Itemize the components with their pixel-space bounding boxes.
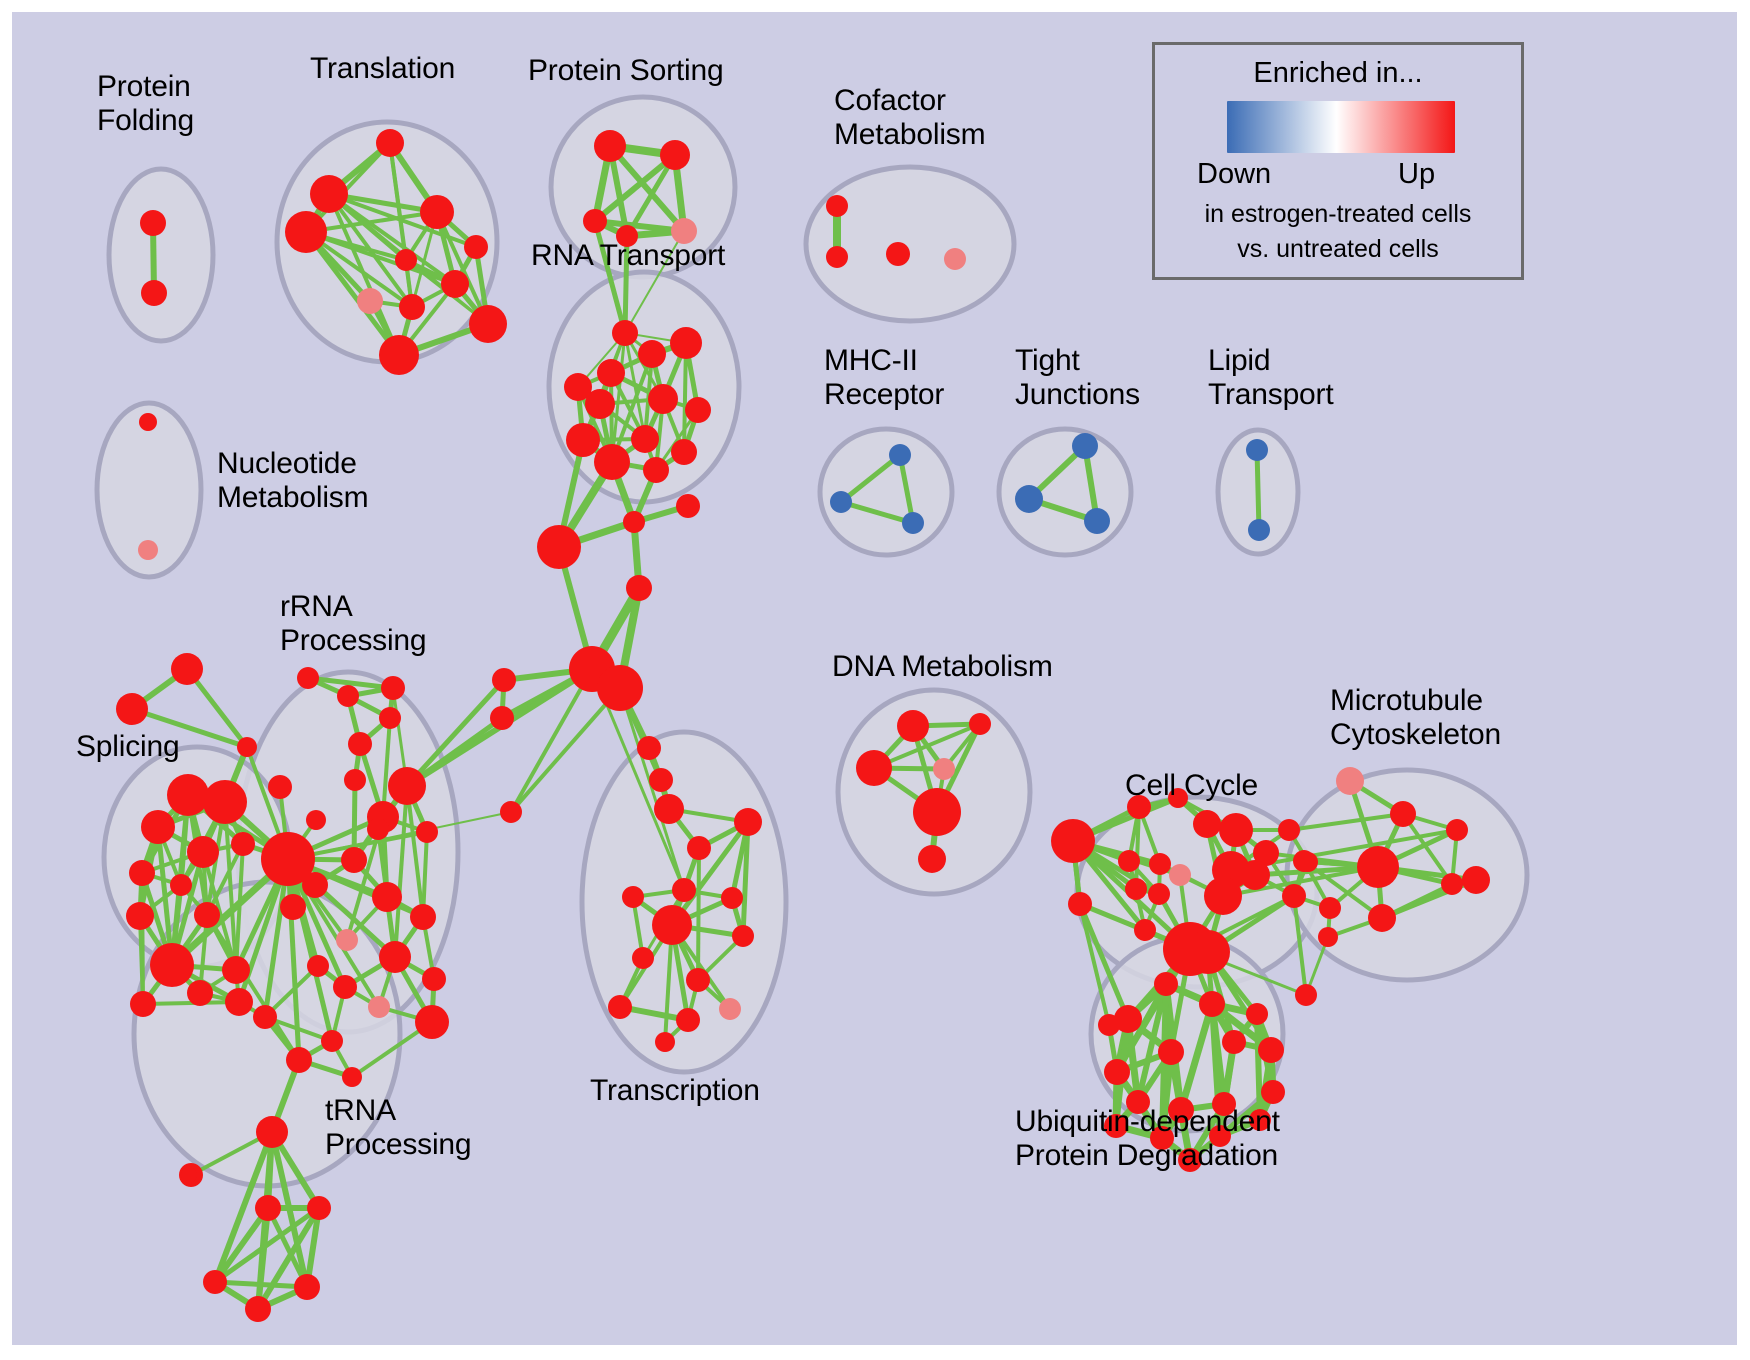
- network-node[interactable]: [1319, 897, 1341, 919]
- network-node[interactable]: [652, 905, 692, 945]
- legend-title: Enriched in...: [1155, 57, 1521, 90]
- network-node[interactable]: [1118, 850, 1140, 872]
- network-node[interactable]: [1246, 1003, 1268, 1025]
- network-node[interactable]: [231, 832, 255, 856]
- network-node[interactable]: [631, 425, 659, 453]
- network-node[interactable]: [280, 894, 306, 920]
- network-node[interactable]: [933, 758, 955, 780]
- network-node[interactable]: [171, 653, 203, 685]
- network-node[interactable]: [138, 540, 158, 560]
- network-node[interactable]: [597, 665, 643, 711]
- network-node[interactable]: [337, 685, 359, 707]
- network-node[interactable]: [1154, 972, 1178, 996]
- cluster-label-rrna-processing: rRNAProcessing: [280, 590, 426, 657]
- network-node[interactable]: [464, 235, 488, 259]
- cluster-label-line: Ubiquitin-dependent: [1015, 1105, 1280, 1139]
- network-node[interactable]: [336, 929, 358, 951]
- cluster-label-line: Tight: [1015, 344, 1140, 378]
- network-node[interactable]: [187, 836, 219, 868]
- legend-box: Enriched in... Down Up in estrogen-treat…: [1152, 42, 1524, 280]
- network-node[interactable]: [637, 736, 661, 760]
- network-node[interactable]: [381, 676, 405, 700]
- network-node[interactable]: [732, 925, 754, 947]
- cluster-label-line: Cell Cycle: [1125, 769, 1258, 803]
- cluster-label-line: DNA Metabolism: [832, 650, 1053, 684]
- network-node[interactable]: [856, 750, 892, 786]
- network-node[interactable]: [141, 280, 167, 306]
- network-node[interactable]: [1186, 930, 1230, 974]
- network-node[interactable]: [648, 384, 678, 414]
- network-node[interactable]: [918, 845, 946, 873]
- network-node[interactable]: [187, 980, 213, 1006]
- network-node[interactable]: [167, 774, 209, 816]
- network-node[interactable]: [410, 904, 436, 930]
- network-node[interactable]: [416, 821, 438, 843]
- network-node[interactable]: [194, 902, 220, 928]
- network-node[interactable]: [140, 210, 166, 236]
- cluster-label-transcription: Transcription: [590, 1074, 760, 1108]
- network-node[interactable]: [676, 1008, 700, 1032]
- network-node[interactable]: [1357, 846, 1399, 888]
- network-node[interactable]: [441, 270, 469, 298]
- network-edge: [1257, 450, 1259, 530]
- network-node[interactable]: [608, 995, 632, 1019]
- network-canvas: ProteinFoldingTranslationProtein Sorting…: [12, 12, 1737, 1345]
- network-node[interactable]: [379, 941, 411, 973]
- network-node[interactable]: [203, 780, 247, 824]
- cluster-label-lipid-transport: LipidTransport: [1208, 344, 1333, 411]
- network-node[interactable]: [225, 988, 253, 1016]
- legend-subtitle-line1: in estrogen-treated cells: [1155, 200, 1521, 229]
- cluster-label-trna-processing: tRNAProcessing: [325, 1094, 471, 1161]
- cluster-label-translation: Translation: [310, 52, 455, 86]
- cluster-label-line: Transcription: [590, 1074, 760, 1108]
- network-node[interactable]: [379, 707, 401, 729]
- network-node[interactable]: [1278, 819, 1300, 841]
- network-node[interactable]: [395, 249, 417, 271]
- network-node[interactable]: [130, 991, 156, 1017]
- network-node[interactable]: [734, 808, 762, 836]
- network-node[interactable]: [1084, 508, 1110, 534]
- network-node[interactable]: [1149, 853, 1171, 875]
- network-node[interactable]: [139, 413, 157, 431]
- network-node[interactable]: [672, 878, 696, 902]
- network-node[interactable]: [1295, 984, 1317, 1006]
- network-node[interactable]: [719, 998, 741, 1020]
- legend-color-gradient-bar: [1227, 101, 1455, 153]
- cluster-label-tight-junctions: TightJunctions: [1015, 344, 1140, 411]
- network-node[interactable]: [285, 211, 327, 253]
- cluster-label-dna-metabolism: DNA Metabolism: [832, 650, 1053, 684]
- legend-down-label: Down: [1197, 158, 1271, 191]
- network-node[interactable]: [670, 327, 702, 359]
- cluster-label-line: Cofactor: [834, 84, 985, 118]
- network-node[interactable]: [256, 1116, 288, 1148]
- legend-subtitle-line2: vs. untreated cells: [1155, 235, 1521, 264]
- cluster-label-nucleotide-metabolism: NucleotideMetabolism: [217, 447, 368, 514]
- cluster-label-line: Protein Degradation: [1015, 1139, 1280, 1173]
- network-node[interactable]: [420, 195, 454, 229]
- network-node[interactable]: [310, 175, 348, 213]
- cluster-label-protein-sorting: Protein Sorting: [528, 54, 723, 88]
- enrichment-map-figure: ProteinFoldingTranslationProtein Sorting…: [0, 0, 1750, 1360]
- cluster-label-line: Splicing: [76, 730, 179, 764]
- network-node[interactable]: [1068, 892, 1092, 916]
- network-node[interactable]: [1248, 519, 1270, 541]
- network-edge: [215, 1282, 307, 1287]
- network-node[interactable]: [566, 423, 600, 457]
- cluster-label-cell-cycle: Cell Cycle: [1125, 769, 1258, 803]
- network-node[interactable]: [583, 209, 607, 233]
- network-node[interactable]: [1193, 810, 1221, 838]
- network-node[interactable]: [170, 874, 192, 896]
- network-node[interactable]: [415, 1005, 449, 1039]
- cluster-label-line: Lipid: [1208, 344, 1333, 378]
- network-node[interactable]: [594, 130, 626, 162]
- network-node[interactable]: [1015, 485, 1043, 513]
- network-node[interactable]: [1441, 873, 1463, 895]
- network-node[interactable]: [594, 444, 630, 480]
- cluster-label-line: Protein: [97, 70, 194, 104]
- cluster-label-line: Protein Sorting: [528, 54, 723, 88]
- cluster-label-cofactor-metabolism: CofactorMetabolism: [834, 84, 985, 151]
- network-node[interactable]: [913, 788, 961, 836]
- cluster-label-line: Processing: [325, 1128, 471, 1162]
- network-node[interactable]: [1240, 860, 1270, 890]
- network-node[interactable]: [1104, 1059, 1130, 1085]
- network-node[interactable]: [1318, 927, 1338, 947]
- network-node[interactable]: [500, 801, 522, 823]
- network-node[interactable]: [286, 1047, 312, 1073]
- network-node[interactable]: [1169, 864, 1191, 886]
- cluster-label-line: Microtubule: [1330, 684, 1501, 718]
- network-node[interactable]: [1051, 819, 1095, 863]
- cluster-label-line: Cytoskeleton: [1330, 718, 1501, 752]
- network-node[interactable]: [597, 359, 625, 387]
- network-node[interactable]: [490, 706, 514, 730]
- network-node[interactable]: [1282, 884, 1306, 908]
- network-node[interactable]: [654, 794, 684, 824]
- network-node[interactable]: [902, 512, 924, 534]
- network-node[interactable]: [307, 955, 329, 977]
- network-node[interactable]: [944, 248, 966, 270]
- network-node[interactable]: [379, 335, 419, 375]
- network-node[interactable]: [623, 511, 645, 533]
- network-node[interactable]: [342, 1067, 362, 1087]
- network-node[interactable]: [126, 902, 154, 930]
- network-node[interactable]: [222, 956, 250, 984]
- network-node[interactable]: [1158, 1039, 1184, 1065]
- network-node[interactable]: [372, 882, 402, 912]
- network-node[interactable]: [612, 320, 638, 346]
- network-node[interactable]: [830, 491, 852, 513]
- network-node[interactable]: [422, 967, 446, 991]
- network-node[interactable]: [585, 389, 615, 419]
- cluster-label-line: Metabolism: [834, 118, 985, 152]
- network-node[interactable]: [306, 810, 326, 830]
- network-node[interactable]: [643, 457, 669, 483]
- cluster-label-line: Metabolism: [217, 481, 368, 515]
- cluster-label-mhc-ii-receptor: MHC-IIReceptor: [824, 344, 944, 411]
- network-node[interactable]: [685, 397, 711, 423]
- network-node[interactable]: [1261, 1080, 1285, 1104]
- network-node[interactable]: [268, 775, 292, 799]
- network-node[interactable]: [388, 767, 426, 805]
- cluster-label-line: Processing: [280, 624, 426, 658]
- network-node[interactable]: [622, 886, 644, 908]
- network-node[interactable]: [632, 947, 654, 969]
- network-node[interactable]: [367, 818, 389, 840]
- network-node[interactable]: [129, 860, 155, 886]
- network-node[interactable]: [245, 1296, 271, 1322]
- cluster-ellipse-protein-folding: [109, 169, 213, 341]
- network-node[interactable]: [181, 1167, 197, 1183]
- cluster-label-line: Nucleotide: [217, 447, 368, 481]
- cluster-label-protein-folding: ProteinFolding: [97, 70, 194, 137]
- cluster-label-line: Folding: [97, 104, 194, 138]
- network-node[interactable]: [889, 444, 911, 466]
- cluster-label-line: Junctions: [1015, 378, 1140, 412]
- network-node[interactable]: [341, 847, 367, 873]
- network-node[interactable]: [1134, 919, 1156, 941]
- network-node[interactable]: [1148, 883, 1170, 905]
- network-node[interactable]: [826, 246, 848, 268]
- network-node[interactable]: [261, 832, 315, 886]
- network-node[interactable]: [1258, 1037, 1284, 1063]
- network-node[interactable]: [255, 1195, 281, 1221]
- network-node[interactable]: [492, 668, 516, 692]
- network-node[interactable]: [1336, 767, 1364, 795]
- network-node[interactable]: [368, 996, 390, 1018]
- cluster-label-line: tRNA: [325, 1094, 471, 1128]
- network-node[interactable]: [626, 575, 652, 601]
- network-node[interactable]: [660, 140, 690, 170]
- network-node[interactable]: [376, 129, 404, 157]
- cluster-label-ubiquitin-protein-degradation: Ubiquitin-dependentProtein Degradation: [1015, 1105, 1280, 1172]
- network-node[interactable]: [969, 713, 991, 735]
- cluster-label-line: Transport: [1208, 378, 1333, 412]
- network-node[interactable]: [253, 1005, 277, 1029]
- network-node[interactable]: [687, 836, 711, 860]
- network-node[interactable]: [141, 810, 175, 844]
- network-node[interactable]: [1219, 813, 1253, 847]
- cluster-label-line: MHC-II: [824, 344, 944, 378]
- network-node[interactable]: [1125, 878, 1147, 900]
- network-node[interactable]: [237, 737, 257, 757]
- network-node[interactable]: [344, 769, 366, 791]
- network-node[interactable]: [676, 494, 700, 518]
- legend-up-label: Up: [1398, 158, 1435, 191]
- network-node[interactable]: [686, 968, 710, 992]
- network-node[interactable]: [399, 294, 425, 320]
- network-node[interactable]: [1204, 877, 1242, 915]
- cluster-label-line: Receptor: [824, 378, 944, 412]
- network-node[interactable]: [826, 195, 848, 217]
- network-node[interactable]: [649, 768, 673, 792]
- network-node[interactable]: [1098, 1014, 1120, 1036]
- network-node[interactable]: [671, 439, 697, 465]
- cluster-label-splicing: Splicing: [76, 730, 179, 764]
- network-node[interactable]: [721, 887, 743, 909]
- network-node[interactable]: [897, 710, 929, 742]
- network-node[interactable]: [1222, 1030, 1246, 1054]
- network-node[interactable]: [116, 693, 148, 725]
- cluster-label-line: RNA Transport: [531, 239, 725, 273]
- network-node[interactable]: [357, 288, 383, 314]
- network-node[interactable]: [203, 1270, 227, 1294]
- network-node[interactable]: [1462, 866, 1490, 894]
- cluster-label-microtubule-cytoskeleton: MicrotubuleCytoskeleton: [1330, 684, 1501, 751]
- network-node[interactable]: [297, 667, 319, 689]
- network-node[interactable]: [150, 943, 194, 987]
- network-node[interactable]: [1246, 439, 1268, 461]
- network-node[interactable]: [638, 340, 666, 368]
- network-node[interactable]: [321, 1030, 343, 1052]
- network-node[interactable]: [333, 975, 357, 999]
- network-node[interactable]: [1293, 850, 1315, 872]
- network-node[interactable]: [537, 525, 581, 569]
- network-node[interactable]: [1446, 819, 1468, 841]
- network-node[interactable]: [469, 305, 507, 343]
- network-node[interactable]: [1199, 991, 1225, 1017]
- network-node[interactable]: [1072, 433, 1098, 459]
- network-node[interactable]: [655, 1032, 675, 1052]
- network-node[interactable]: [886, 242, 910, 266]
- network-node[interactable]: [348, 732, 372, 756]
- network-node[interactable]: [294, 1274, 320, 1300]
- network-node[interactable]: [307, 1196, 331, 1220]
- network-node[interactable]: [1368, 904, 1396, 932]
- cluster-label-line: rRNA: [280, 590, 426, 624]
- cluster-label-rna-transport: RNA Transport: [531, 239, 725, 273]
- network-edge: [684, 343, 686, 452]
- cluster-label-line: Translation: [310, 52, 455, 86]
- network-node[interactable]: [1390, 801, 1416, 827]
